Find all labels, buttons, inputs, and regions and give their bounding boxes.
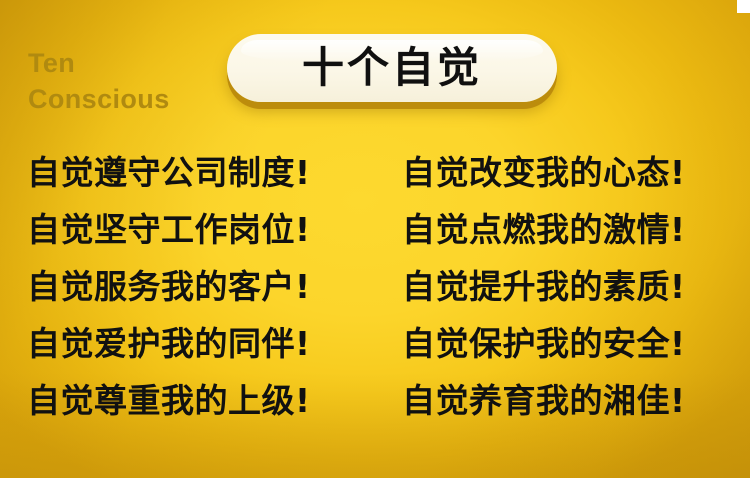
slogan-item: 自觉养育我的湘佳!: [378, 372, 750, 429]
eyebrow-text: Ten Conscious: [28, 45, 238, 118]
poster-header: Ten Conscious 十个自觉: [0, 0, 750, 132]
eyebrow-line-2: Conscious: [28, 81, 238, 117]
slogan-item: 自觉改变我的心态!: [378, 144, 750, 201]
slogan-item: 自觉点燃我的激情!: [378, 201, 750, 258]
corner-notch: [737, 0, 750, 13]
slogan-grid: 自觉遵守公司制度! 自觉改变我的心态! 自觉坚守工作岗位! 自觉点燃我的激情! …: [0, 144, 750, 429]
slogan-item: 自觉保护我的安全!: [378, 315, 750, 372]
slogan-item: 自觉尊重我的上级!: [0, 372, 378, 429]
poster-canvas: Ten Conscious 十个自觉 自觉遵守公司制度! 自觉改变我的心态! 自…: [0, 0, 750, 478]
slogan-item: 自觉提升我的素质!: [378, 258, 750, 315]
slogan-item: 自觉服务我的客户!: [0, 258, 378, 315]
eyebrow-line-1: Ten: [28, 45, 238, 81]
title-pill-badge: 十个自觉: [227, 34, 557, 102]
slogan-item: 自觉遵守公司制度!: [0, 144, 378, 201]
page-title: 十个自觉: [302, 47, 482, 89]
slogan-item: 自觉爱护我的同伴!: [0, 315, 378, 372]
slogan-item: 自觉坚守工作岗位!: [0, 201, 378, 258]
